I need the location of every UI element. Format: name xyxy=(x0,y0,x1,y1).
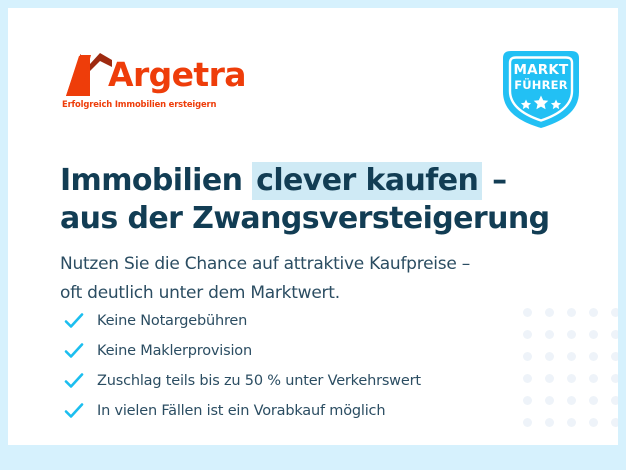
check-icon xyxy=(64,372,84,390)
dot xyxy=(611,352,618,361)
list-item: Zuschlag teils bis zu 50 % unter Verkehr… xyxy=(62,366,532,396)
logo-tagline: Erfolgreich Immobilien ersteigern xyxy=(62,99,216,109)
dot xyxy=(611,308,618,317)
page-title: Immobilien clever kaufen – aus der Zwang… xyxy=(60,162,560,238)
subheading: Nutzen Sie die Chance auf attraktive Kau… xyxy=(60,250,560,308)
list-item-label: Keine Notargebühren xyxy=(97,313,247,329)
logo-wordmark: Argetra xyxy=(108,53,246,97)
dot-grid-pattern xyxy=(523,308,618,443)
dot xyxy=(589,330,598,339)
list-item: Keine Maklerprovision xyxy=(62,336,532,366)
subheading-line-2: oft deutlich unter dem Marktwert. xyxy=(60,279,560,308)
list-item: Keine Notargebühren xyxy=(62,306,532,336)
promo-banner-card: Argetra Erfolgreich Immobilien ersteiger… xyxy=(8,8,618,445)
market-leader-badge: MARKT FÜHRER xyxy=(495,46,587,132)
check-icon xyxy=(64,402,84,420)
check-icon xyxy=(64,312,84,330)
dot xyxy=(611,330,618,339)
dot xyxy=(589,308,598,317)
logo-row: Argetra xyxy=(60,50,260,98)
dot xyxy=(589,352,598,361)
dot xyxy=(545,308,554,317)
subheading-line-1: Nutzen Sie die Chance auf attraktive Kau… xyxy=(60,250,560,279)
dot xyxy=(545,374,554,383)
argetra-logo[interactable]: Argetra Erfolgreich Immobilien ersteiger… xyxy=(60,50,260,98)
dot xyxy=(589,396,598,405)
dot xyxy=(567,418,576,427)
dot xyxy=(611,374,618,383)
headline-line-1: Immobilien clever kaufen – xyxy=(60,162,560,200)
headline-prefix: Immobilien xyxy=(60,163,252,198)
dot xyxy=(611,418,618,427)
check-icon xyxy=(64,342,84,360)
dot xyxy=(589,418,598,427)
dot xyxy=(545,352,554,361)
list-item-label: Keine Maklerprovision xyxy=(97,343,252,359)
headline-line-2: aus der Zwangsversteigerung xyxy=(60,200,560,238)
headline-suffix: – xyxy=(482,163,506,198)
dot xyxy=(545,396,554,405)
shield-icon xyxy=(495,46,587,132)
dot xyxy=(567,308,576,317)
dot xyxy=(567,396,576,405)
list-item: In vielen Fällen ist ein Vorabkauf mögli… xyxy=(62,396,532,426)
dot xyxy=(611,396,618,405)
list-item-label: Zuschlag teils bis zu 50 % unter Verkehr… xyxy=(97,373,421,389)
dot xyxy=(567,352,576,361)
dot xyxy=(589,374,598,383)
dot xyxy=(545,418,554,427)
dot xyxy=(545,330,554,339)
dot xyxy=(567,330,576,339)
list-item-label: In vielen Fällen ist ein Vorabkauf mögli… xyxy=(97,403,385,419)
dot xyxy=(567,374,576,383)
benefits-list: Keine Notargebühren Keine Maklerprovisio… xyxy=(62,306,532,426)
headline-highlight: clever kaufen xyxy=(252,162,482,200)
